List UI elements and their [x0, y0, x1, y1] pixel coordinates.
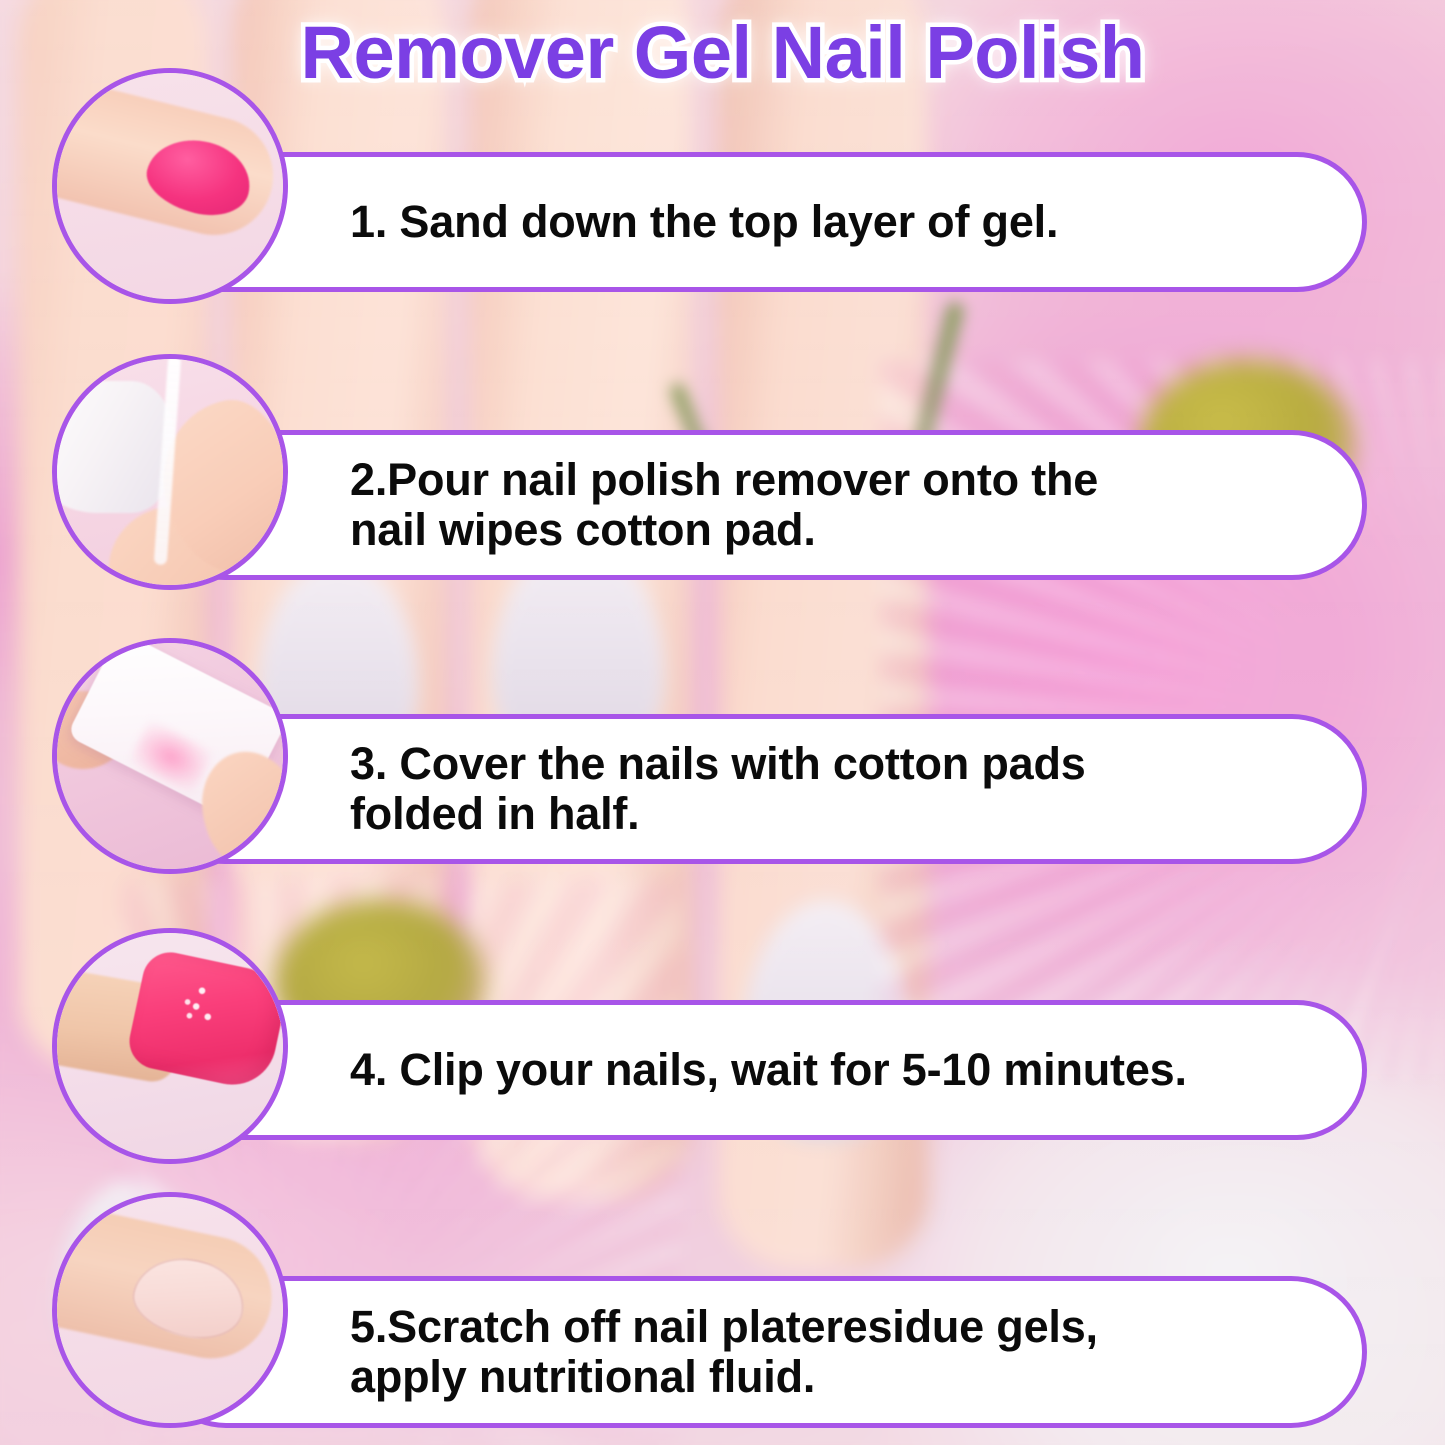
step-text-5: 5.Scratch off nail plateresidue gels, ap…: [350, 1302, 1098, 1403]
step-box-3: 3. Cover the nails with cotton pads fold…: [150, 714, 1367, 864]
pink-nail-clip-on-finger-photo: [57, 933, 283, 1159]
pouring-remover-onto-cotton-pad-photo: [57, 359, 283, 585]
step-box-2: 2.Pour nail polish remover onto the nail…: [150, 430, 1367, 580]
step-thumbnail-1: [52, 68, 288, 304]
clean-bare-nail-photo: [57, 1197, 283, 1423]
step-text-2: 2.Pour nail polish remover onto the nail…: [350, 455, 1098, 556]
steps-list: 1. Sand down the top layer of gel. 2.Pou…: [0, 0, 1445, 1445]
step-text-1: 1. Sand down the top layer of gel.: [350, 197, 1058, 247]
product-instruction-infographic: Remover Gel Nail Polish 1. Sand down the…: [0, 0, 1445, 1445]
step-thumbnail-5: [52, 1192, 288, 1428]
step-text-3: 3. Cover the nails with cotton pads fold…: [350, 739, 1086, 840]
step-box-1: 1. Sand down the top layer of gel.: [150, 152, 1367, 292]
finger-with-pink-gel-nail-photo: [57, 73, 283, 299]
page-title: Remover Gel Nail Polish: [0, 16, 1445, 90]
step-thumbnail-3: [52, 638, 288, 874]
folded-cotton-pad-in-fingers-photo: [57, 643, 283, 869]
step-thumbnail-2: [52, 354, 288, 590]
step-thumbnail-4: [52, 928, 288, 1164]
step-text-4: 4. Clip your nails, wait for 5-10 minute…: [350, 1045, 1187, 1095]
step-box-4: 4. Clip your nails, wait for 5-10 minute…: [150, 1000, 1367, 1140]
step-box-5: 5.Scratch off nail plateresidue gels, ap…: [150, 1276, 1367, 1428]
